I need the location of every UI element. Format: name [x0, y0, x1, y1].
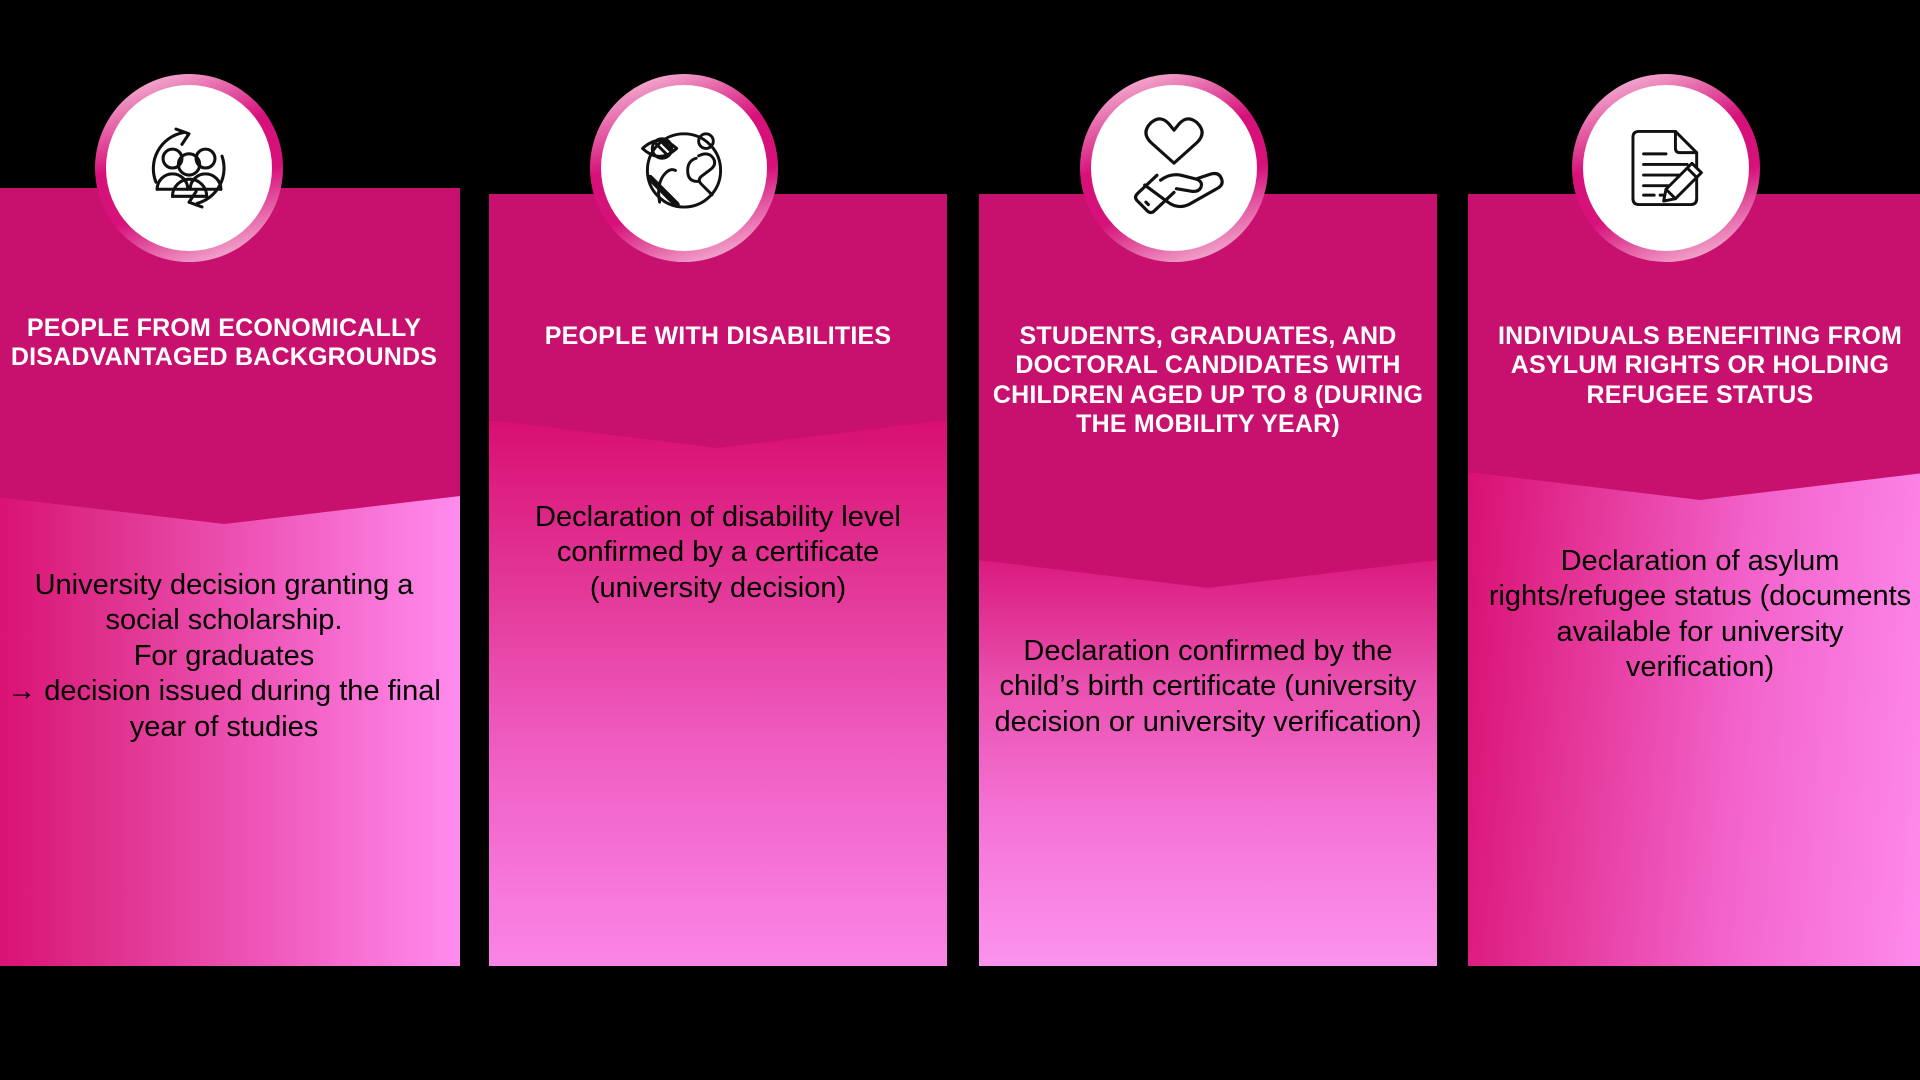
card-students-with-children: STUDENTS, GRADUATES, AND DOCTORAL CANDID…: [979, 0, 1437, 1080]
card-1-icon-badge: [101, 80, 277, 256]
card-asylum-refugee: INDIVIDUALS BENEFITING FROM ASYLUM RIGHT…: [1468, 0, 1920, 1080]
card-economically-disadvantaged: PEOPLE FROM ECONOMICALLY DISADVANTAGED B…: [0, 0, 460, 1080]
card-3-body: Declaration confirmed by the child’s bir…: [979, 560, 1437, 966]
infographic-board: PEOPLE FROM ECONOMICALLY DISADVANTAGED B…: [0, 0, 1920, 1080]
card-2-body-text: Declaration of disability level confirme…: [489, 500, 947, 606]
card-2-icon-badge: [596, 80, 772, 256]
document-pencil-icon: [1607, 109, 1725, 227]
card-4-icon-badge: [1578, 80, 1754, 256]
card-3-icon-badge: [1086, 80, 1262, 256]
card-3-heading: STUDENTS, GRADUATES, AND DOCTORAL CANDID…: [979, 322, 1437, 439]
card-2-body: Declaration of disability level confirme…: [489, 420, 947, 966]
people-group-cycle-icon: [130, 109, 248, 227]
card-4-heading: INDIVIDUALS BENEFITING FROM ASYLUM RIGHT…: [1468, 322, 1920, 410]
heart-in-hand-icon: [1113, 107, 1235, 229]
card-2-heading: PEOPLE WITH DISABILITIES: [489, 322, 947, 351]
disability-accessibility-icon: [623, 107, 745, 229]
card-1-heading: PEOPLE FROM ECONOMICALLY DISADVANTAGED B…: [0, 314, 460, 373]
card-4-body: Declaration of asylum rights/refugee sta…: [1468, 472, 1920, 966]
card-4-body-text: Declaration of asylum rights/refugee sta…: [1468, 544, 1920, 686]
card-3-body-text: Declaration confirmed by the child’s bir…: [979, 634, 1437, 740]
card-1-body-text: University decision granting a social sc…: [0, 568, 460, 745]
card-1-body: University decision granting a social sc…: [0, 496, 460, 966]
card-people-with-disabilities: PEOPLE WITH DISABILITIES Declaration of …: [489, 0, 947, 1080]
